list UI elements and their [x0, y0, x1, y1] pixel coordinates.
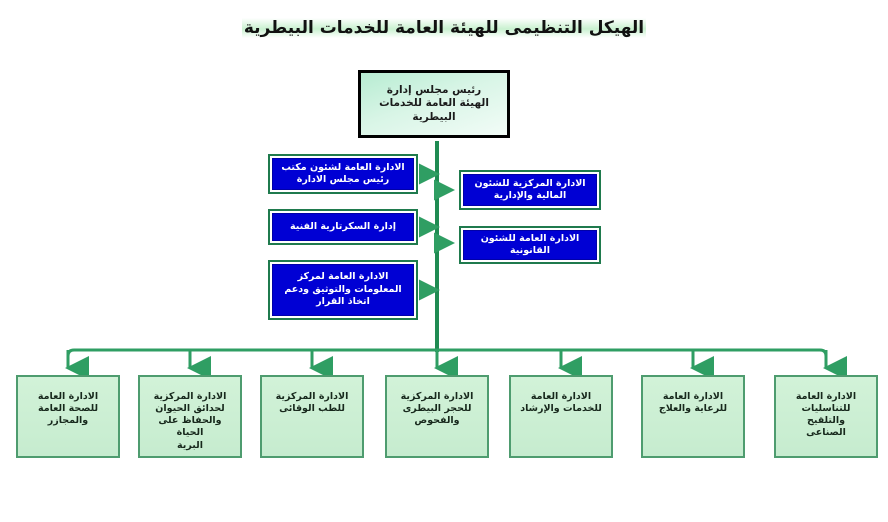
node-dept-preventive-medicine[interactable]: الادارة المركزية للطب الوقائى: [260, 375, 364, 458]
node-information-center[interactable]: الادارة العامة لمركز المعلومات والتوثيق …: [268, 260, 418, 320]
node-office-affairs-label: الادارة العامة لشئون مكتب رئيس مجلس الاد…: [272, 158, 414, 190]
node-chairman[interactable]: رئيس مجلس إدارة الهيئة العامة للخدمات ال…: [358, 70, 510, 138]
node-dept-services-extension-label: الادارة العامة للخدمات والإرشاد: [516, 381, 606, 415]
node-office-affairs[interactable]: الادارة العامة لشئون مكتب رئيس مجلس الاد…: [268, 154, 418, 194]
node-dept-quarantine-inspection-label: الادارة المركزية للحجر البيطرى والفحوص: [392, 381, 482, 427]
node-dept-quarantine-inspection[interactable]: الادارة المركزية للحجر البيطرى والفحوص: [385, 375, 489, 458]
node-chairman-label: رئيس مجلس إدارة الهيئة العامة للخدمات ال…: [379, 84, 489, 124]
department-drop-arrows: [68, 350, 826, 368]
node-dept-public-health-abattoirs-label: الادارة العامة للصحة العامة والمجازر: [23, 381, 113, 427]
node-dept-artificial-insemination-label: الادارة العامة للتناسليات والتلقيح الصنا…: [781, 381, 871, 440]
node-dept-services-extension[interactable]: الادارة العامة للخدمات والإرشاد: [509, 375, 613, 458]
node-technical-secretariat[interactable]: إدارة السكرتارية الفنية: [268, 209, 418, 245]
node-finance-admin[interactable]: الادارة المركزية للشئون المالية والإداري…: [459, 170, 601, 210]
node-dept-artificial-insemination[interactable]: الادارة العامة للتناسليات والتلقيح الصنا…: [774, 375, 878, 458]
node-information-center-label: الادارة العامة لمركز المعلومات والتوثيق …: [272, 264, 414, 316]
node-technical-secretariat-label: إدارة السكرتارية الفنية: [272, 213, 414, 241]
department-bus: [68, 350, 826, 365]
staff-left-connectors: [422, 174, 435, 290]
page-title-text: الهيكل التنظيمى للهيئة العامة للخدمات ال…: [242, 18, 646, 38]
node-dept-preventive-medicine-label: الادارة المركزية للطب الوقائى: [267, 381, 357, 415]
node-dept-zoos-wildlife[interactable]: الادارة المركزية لحدائق الحيوان والحفاظ …: [138, 375, 242, 458]
node-dept-zoos-wildlife-label: الادارة المركزية لحدائق الحيوان والحفاظ …: [145, 381, 235, 452]
node-legal-affairs[interactable]: الادارة العامة للشئون القانونية: [459, 226, 601, 264]
node-dept-care-treatment[interactable]: الادارة العامة للرعاية والعلاج: [641, 375, 745, 458]
org-chart: الهيكل التنظيمى للهيئة العامة للخدمات ال…: [0, 0, 888, 522]
node-finance-admin-label: الادارة المركزية للشئون المالية والإداري…: [463, 174, 597, 206]
node-dept-public-health-abattoirs[interactable]: الادارة العامة للصحة العامة والمجازر: [16, 375, 120, 458]
node-dept-care-treatment-label: الادارة العامة للرعاية والعلاج: [648, 381, 738, 415]
node-legal-affairs-label: الادارة العامة للشئون القانونية: [463, 230, 597, 260]
staff-right-connectors: [439, 190, 452, 243]
page-title: الهيكل التنظيمى للهيئة العامة للخدمات ال…: [0, 18, 888, 38]
